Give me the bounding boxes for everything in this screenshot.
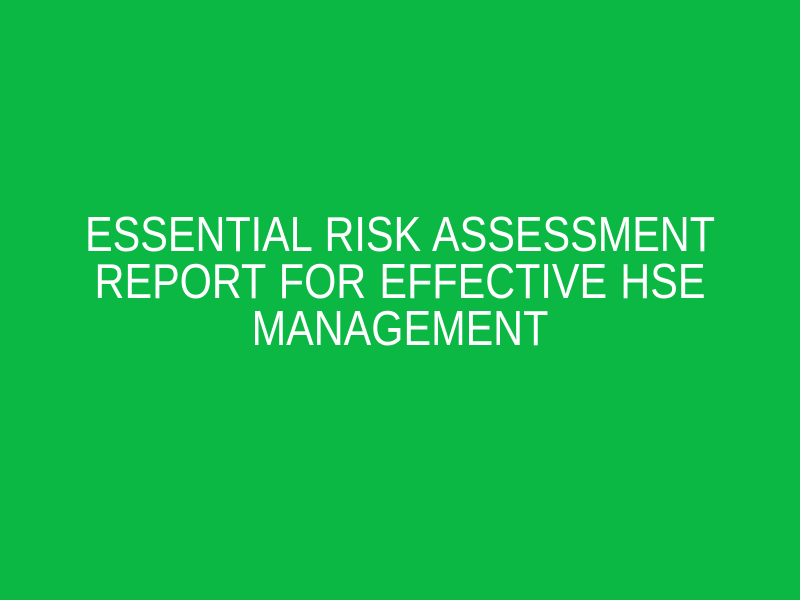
- hero-banner: Essential Risk Assessment Report for Eff…: [0, 0, 800, 600]
- page-title: Essential Risk Assessment Report for Eff…: [76, 212, 725, 353]
- hero-title-block: Essential Risk Assessment Report for Eff…: [0, 212, 800, 353]
